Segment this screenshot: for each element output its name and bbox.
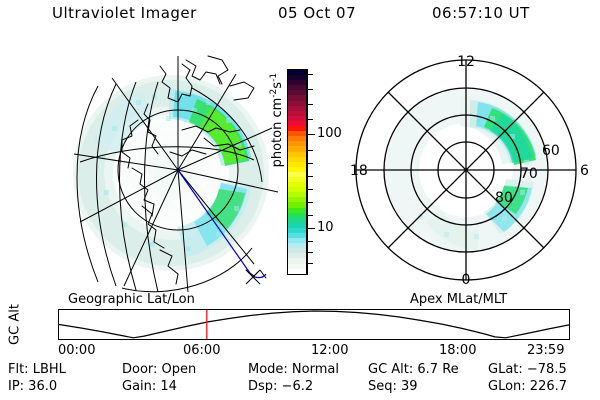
colorbar-title-mid: s [270, 82, 285, 89]
intensity-colorbar[interactable]: 100 10 photon cm-2s-1 [258, 60, 338, 290]
colorbar-tick [307, 252, 313, 253]
altitude-xtick-0: 00:00 [58, 343, 95, 358]
status-ip: IP: 36.0 [8, 379, 57, 394]
colorbar-tick-major [307, 228, 315, 229]
mlat-label-80: 80 [495, 190, 513, 206]
observation-time: 06:57:10 UT [432, 4, 530, 22]
altitude-trace-svg [59, 310, 569, 339]
geographic-plot-caption: Geographic Lat/Lon [68, 292, 195, 307]
colorbar-label-10: 10 [317, 221, 334, 234]
colorbar-gradient [287, 69, 307, 275]
status-seq: Seq: 39 [368, 379, 418, 394]
apex-mlat-mlt-plot[interactable]: 12 6 0 18 60 70 80 [340, 42, 592, 294]
mlt-label-12: 12 [457, 54, 475, 70]
mlat-label-60: 60 [542, 143, 560, 159]
colorbar-tick [307, 215, 313, 216]
status-mode: Mode: Normal [248, 362, 339, 377]
mlt-label-0: 0 [462, 272, 471, 288]
status-block: Flt: LBHL IP: 36.0 Door: Open Gain: 14 M… [0, 362, 600, 398]
aurora-emission-layer [76, 76, 264, 268]
altitude-timeline-panel[interactable] [58, 309, 570, 340]
mlt-label-18: 18 [350, 163, 368, 179]
colorbar-tick [307, 150, 313, 151]
altitude-xtick-3: 18:00 [439, 343, 476, 358]
status-door: Door: Open [122, 362, 196, 377]
mlt-label-6: 6 [580, 163, 589, 179]
status-gc-alt: GC Alt: 6.7 Re [368, 362, 459, 377]
apex-plot-svg: 12 6 0 18 60 70 80 [340, 42, 592, 294]
altitude-axis-label: GC Alt [6, 303, 24, 347]
status-filter: Flt: LBHL [8, 362, 66, 377]
colorbar-tick [307, 119, 313, 120]
colorbar-tick [307, 74, 313, 75]
altitude-xtick-4: 23:59 [527, 343, 564, 358]
geographic-plot[interactable] [40, 42, 255, 294]
status-dsp: Dsp: −6.2 [248, 379, 313, 394]
colorbar-swatch-39 [288, 269, 306, 274]
header-bar: Ultraviolet Imager 05 Oct 07 06:57:10 UT [0, 4, 600, 28]
colorbar-tick [307, 104, 313, 105]
status-glon: GLon: 226.7 [488, 379, 567, 394]
status-gain: Gain: 14 [122, 379, 177, 394]
geographic-plot-svg [40, 42, 255, 294]
colorbar-axis-line [307, 69, 308, 275]
mlat-label-70: 70 [520, 166, 538, 182]
colorbar-axis-title: photon cm-2s-1 [269, 45, 285, 195]
colorbar-tick [307, 263, 313, 264]
colorbar-tick [307, 176, 313, 177]
colorbar-tick [307, 89, 313, 90]
apex-plot-caption: Apex MLat/MLT [410, 292, 507, 307]
colorbar-title-main: photon cm [270, 98, 285, 168]
colorbar-tick [307, 202, 313, 203]
colorbar-tick [307, 241, 313, 242]
colorbar-tick [307, 163, 313, 164]
observation-date: 05 Oct 07 [278, 4, 356, 22]
colorbar-tick-major [307, 134, 315, 135]
status-glat: GLat: −78.5 [488, 362, 567, 377]
altitude-xtick-2: 12:00 [311, 343, 348, 358]
colorbar-label-100: 100 [317, 127, 342, 140]
mlt-spokes [356, 60, 576, 280]
colorbar-title-exp2: -1 [269, 73, 279, 82]
colorbar-title-exp1: -2 [269, 89, 279, 98]
colorbar-tick [307, 189, 313, 190]
altitude-xtick-1: 06:00 [183, 343, 220, 358]
altitude-axis-label-text: GC Alt [8, 303, 23, 347]
altitude-trace-line [59, 311, 569, 338]
instrument-title: Ultraviolet Imager [52, 4, 197, 22]
